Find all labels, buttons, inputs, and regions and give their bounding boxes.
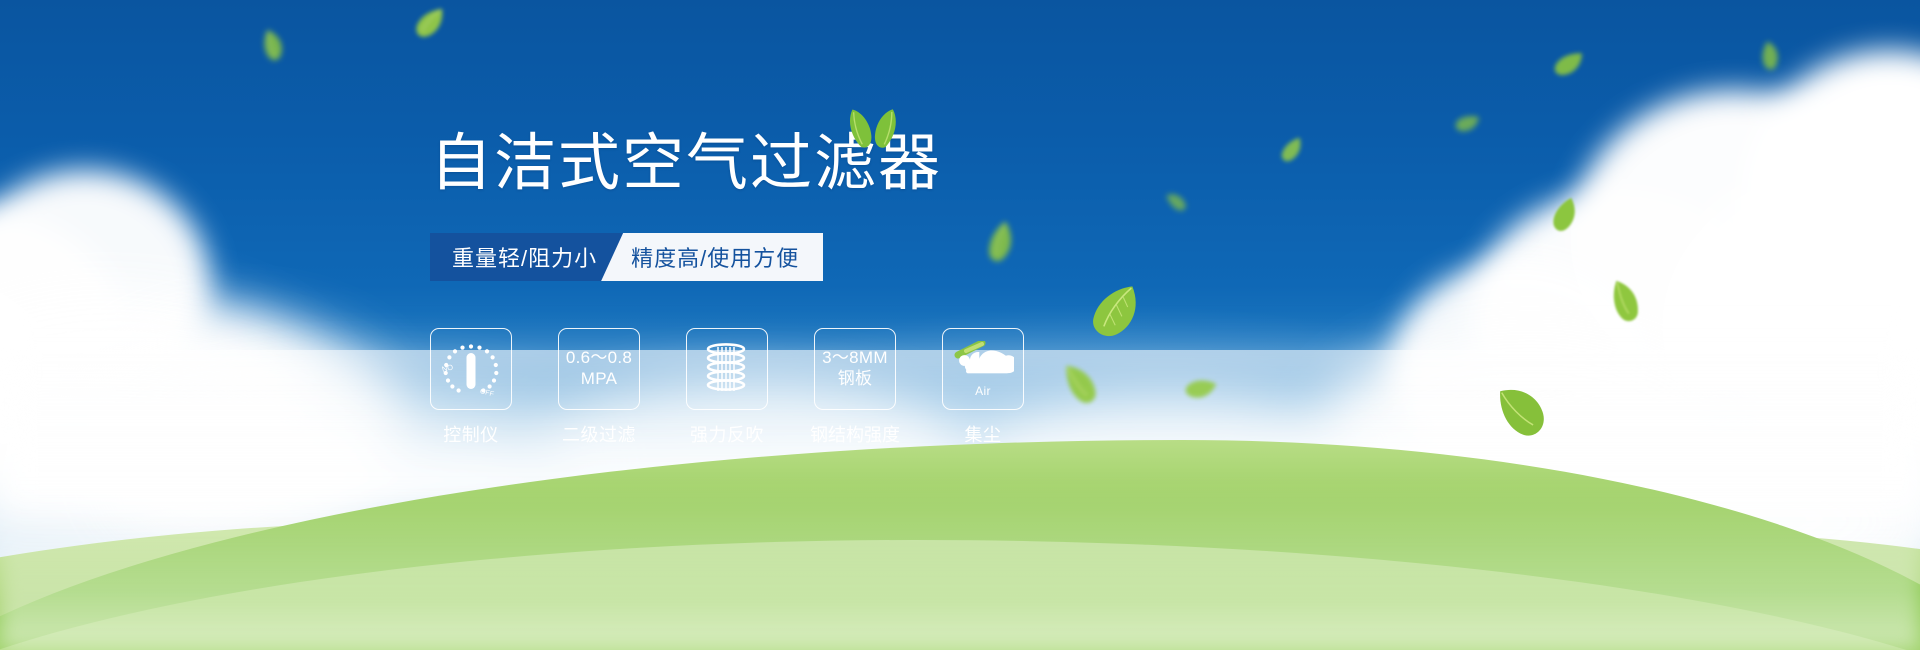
gauge-label-no: NO — [441, 362, 454, 373]
feature-item-controller[interactable]: NO OFF 控制仪 — [430, 328, 512, 447]
pressure-unit: MPA — [566, 369, 632, 390]
feature-label: 钢结构强度 — [810, 421, 900, 447]
feature-icon-box: 3～8MM 钢板 — [814, 328, 896, 410]
feature-tabs: 重量轻/阻力小 精度高/使用方便 — [430, 233, 823, 281]
steel-thickness: 3～8MM — [822, 348, 888, 369]
cloud-air-icon — [952, 341, 1014, 383]
feature-label: 控制仪 — [443, 421, 499, 447]
feature-item-pressure[interactable]: 0.6～0.8 MPA 二级过滤 — [558, 328, 640, 447]
pressure-text-icon: 0.6～0.8 MPA — [566, 348, 632, 389]
filter-cartridge-icon — [699, 339, 755, 399]
feature-label: 集尘 — [965, 421, 1002, 447]
steel-plate-text-icon: 3～8MM 钢板 — [822, 348, 888, 389]
feature-icon-box — [686, 328, 768, 410]
banner-copy: 自洁式空气过滤器 重量轻/阻力小 精度高/使用方便 — [0, 0, 1920, 650]
tab-high-precision-easy-use[interactable]: 精度高/使用方便 — [601, 233, 823, 281]
steel-material: 钢板 — [822, 369, 888, 390]
feature-item-backblow[interactable]: 强力反吹 — [686, 328, 768, 447]
feature-icon-box: 0.6～0.8 MPA — [558, 328, 640, 410]
pressure-range: 0.6～0.8 — [566, 348, 632, 369]
feature-label: 强力反吹 — [690, 421, 764, 447]
feature-icon-row: NO OFF 控制仪 0.6～0.8 MPA 二级过滤 — [430, 328, 1024, 447]
feature-item-dust-collection[interactable]: Air 集尘 — [942, 328, 1024, 447]
gauge-label-off: OFF — [479, 388, 494, 398]
title-sprout-leaves — [838, 104, 908, 152]
feature-icon-box: NO OFF — [430, 328, 512, 410]
product-banner: 自洁式空气过滤器 重量轻/阻力小 精度高/使用方便 — [0, 0, 1920, 650]
feature-item-steel-structure[interactable]: 3～8MM 钢板 钢结构强度 — [814, 328, 896, 447]
feature-label: 二级过滤 — [562, 421, 636, 447]
feature-icon-box: Air — [942, 328, 1024, 410]
gauge-dial-icon: NO OFF — [440, 340, 502, 398]
cloud-air-caption: Air — [975, 384, 991, 398]
tab-label: 精度高/使用方便 — [631, 241, 799, 273]
tab-lightweight-low-resistance[interactable]: 重量轻/阻力小 — [430, 233, 623, 281]
tab-label: 重量轻/阻力小 — [452, 241, 597, 273]
